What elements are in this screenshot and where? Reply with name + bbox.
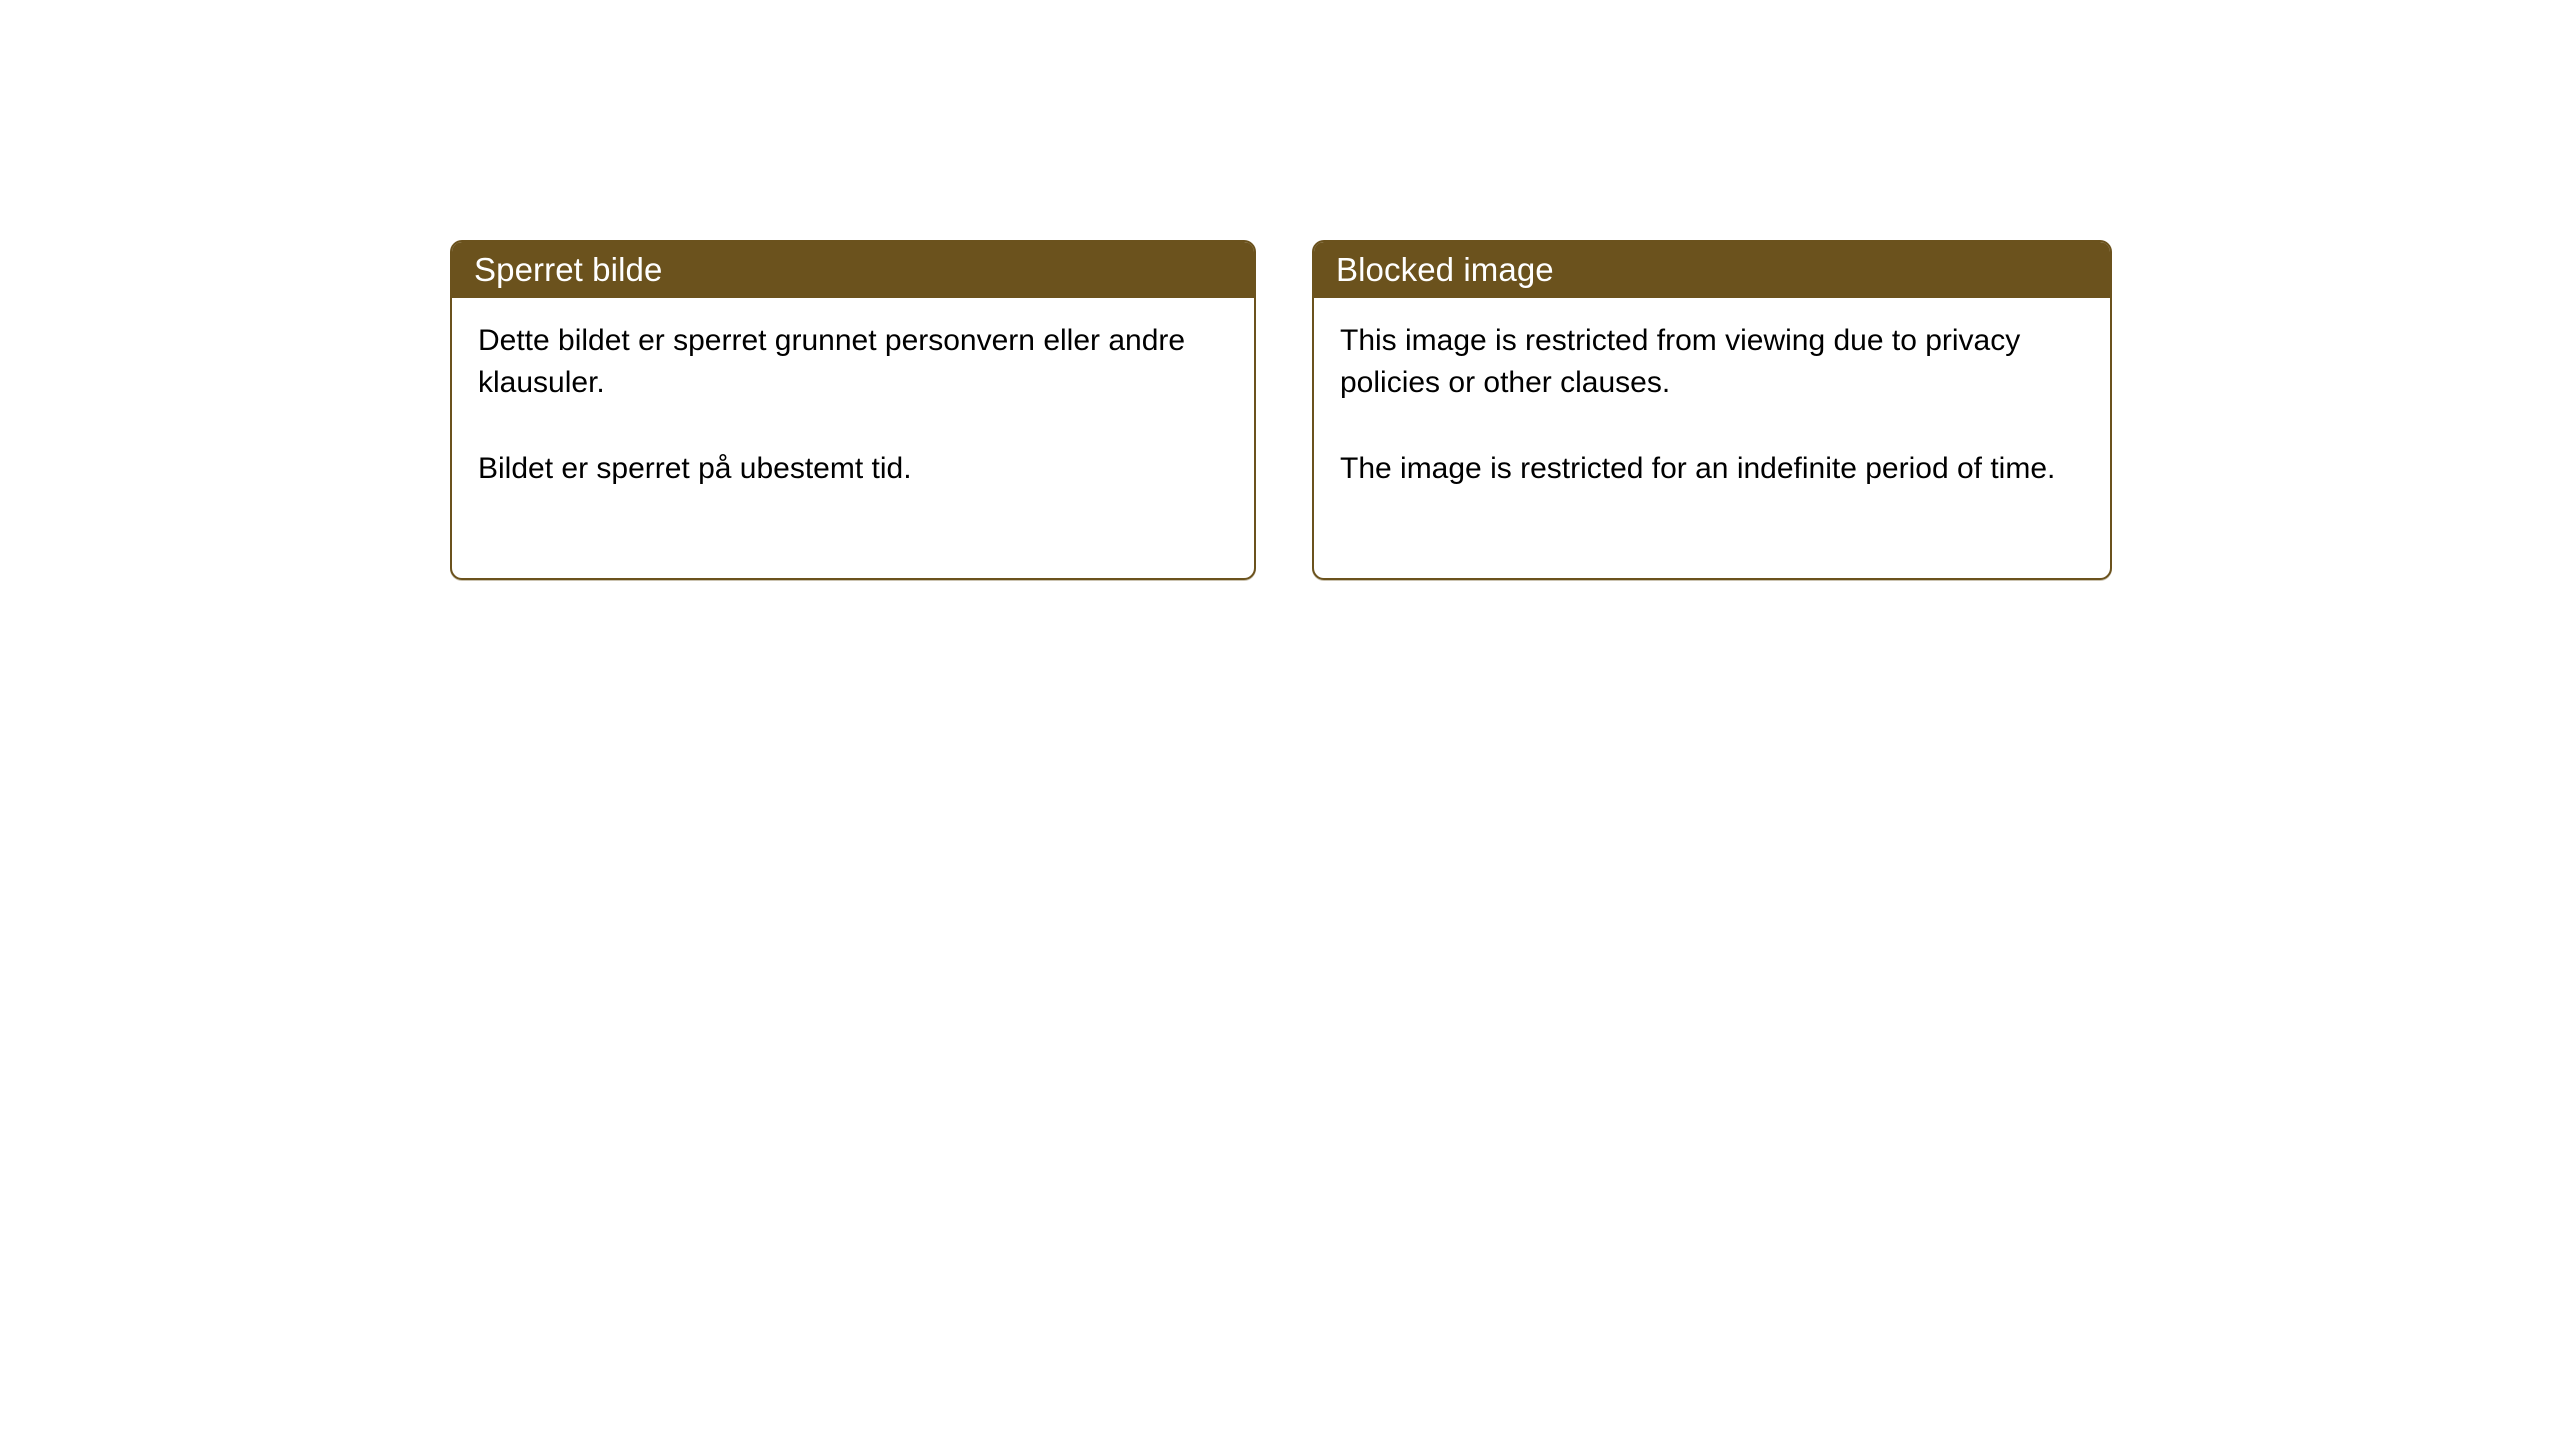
page-canvas: Sperret bilde Dette bildet er sperret gr… xyxy=(0,0,2560,1440)
card-header-norwegian: Sperret bilde xyxy=(450,240,1256,298)
card-title-english: Blocked image xyxy=(1336,253,1554,286)
card-body-english: This image is restricted from viewing du… xyxy=(1314,298,2110,490)
card-paragraph-duration-norwegian: Bildet er sperret på ubestemt tid. xyxy=(478,448,1228,490)
card-title-norwegian: Sperret bilde xyxy=(474,253,662,286)
card-body-norwegian: Dette bildet er sperret grunnet personve… xyxy=(452,298,1254,490)
blocked-image-card-norwegian: Sperret bilde Dette bildet er sperret gr… xyxy=(450,240,1256,580)
card-header-english: Blocked image xyxy=(1312,240,2112,298)
card-paragraph-reason-norwegian: Dette bildet er sperret grunnet personve… xyxy=(478,320,1228,404)
card-paragraph-reason-english: This image is restricted from viewing du… xyxy=(1340,320,2084,404)
blocked-image-card-english: Blocked image This image is restricted f… xyxy=(1312,240,2112,580)
card-paragraph-duration-english: The image is restricted for an indefinit… xyxy=(1340,448,2084,490)
